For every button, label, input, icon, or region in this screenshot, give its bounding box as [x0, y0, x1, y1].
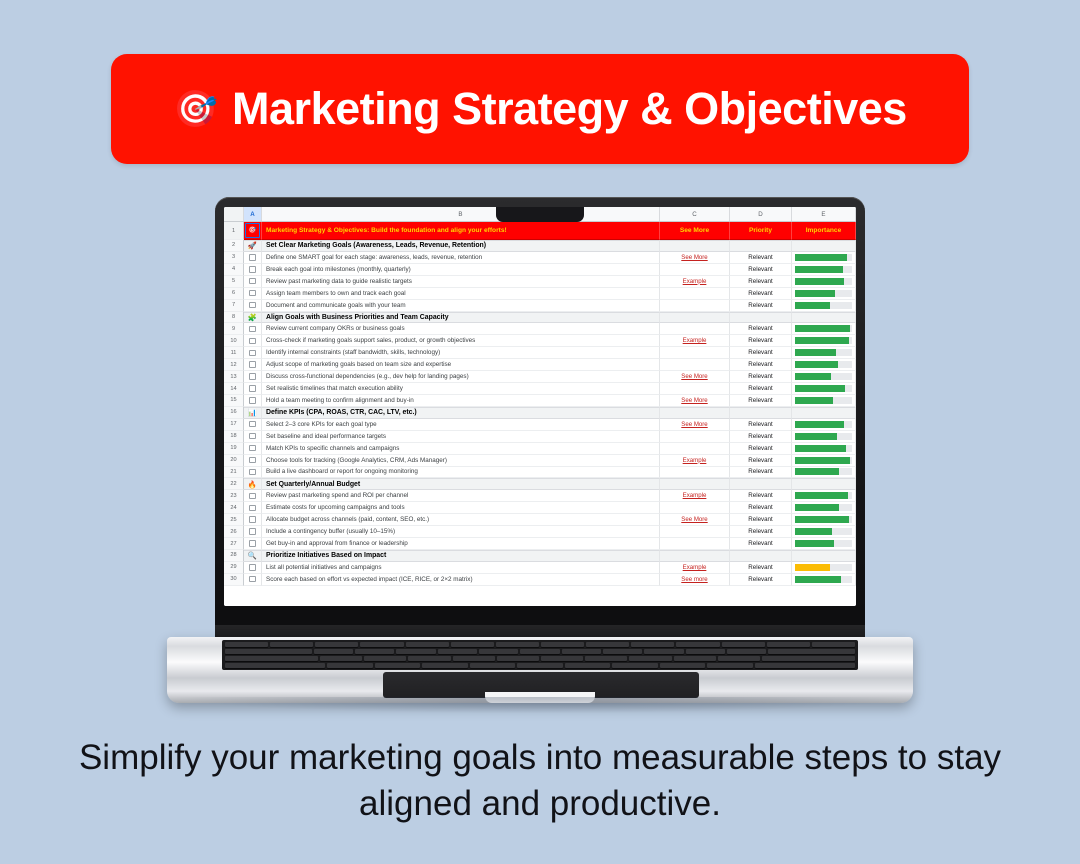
importance-cell[interactable] — [792, 562, 856, 574]
task-checkbox-cell[interactable] — [244, 383, 262, 395]
task-checkbox-cell[interactable] — [244, 288, 262, 300]
see-more-cell[interactable]: See More — [660, 395, 730, 407]
section-header-row[interactable]: 28🔍Prioritize Initiatives Based on Impac… — [224, 550, 856, 562]
task-text-cell[interactable]: Select 2–3 core KPIs for each goal type — [262, 419, 660, 431]
checkbox-icon[interactable] — [249, 350, 255, 356]
priority-column-label: Priority — [749, 227, 772, 234]
task-checkbox-cell[interactable] — [244, 347, 262, 359]
task-row[interactable]: 7Document and communicate goals with you… — [224, 300, 856, 312]
importance-cell[interactable] — [792, 383, 856, 395]
row-number[interactable]: 29 — [224, 562, 244, 574]
importance-bar-track — [795, 266, 852, 273]
poster-canvas: 🎯 Marketing Strategy & Objectives A B C … — [0, 0, 1080, 864]
task-label: Choose tools for tracking (Google Analyt… — [266, 457, 447, 464]
task-label: Review current company OKRs or business … — [266, 325, 405, 332]
priority-cell[interactable]: Relevant — [730, 359, 792, 371]
see-more-cell[interactable]: See More — [660, 419, 730, 431]
importance-bar-track — [795, 564, 852, 571]
task-checkbox-cell[interactable] — [244, 502, 262, 514]
spreadsheet[interactable]: A B C D E 1 🎯 — [224, 207, 856, 606]
checkbox-icon[interactable] — [249, 373, 255, 379]
priority-value: Relevant — [748, 468, 772, 475]
task-text-cell[interactable]: Review current company OKRs or business … — [262, 323, 660, 335]
importance-cell[interactable] — [792, 240, 856, 252]
importance-bar-track — [795, 349, 852, 356]
importance-bar-fill — [795, 576, 841, 583]
section-header-row[interactable]: 16📊Define KPIs (CPA, ROAS, CTR, CAC, LTV… — [224, 407, 856, 419]
row-number[interactable]: 28 — [224, 550, 244, 562]
importance-bar-fill — [795, 468, 839, 475]
task-checkbox-cell[interactable] — [244, 335, 262, 347]
checkbox-icon[interactable] — [249, 469, 255, 475]
select-all-corner[interactable] — [224, 207, 244, 221]
row-number[interactable]: 19 — [224, 443, 244, 455]
task-text-cell[interactable]: List all potential initiatives and campa… — [262, 562, 660, 574]
importance-bar-fill — [795, 564, 830, 571]
checkbox-icon[interactable] — [249, 254, 255, 260]
task-checkbox-cell[interactable] — [244, 419, 262, 431]
column-header-a[interactable]: A — [244, 207, 262, 221]
title-cell-d1: Priority — [730, 222, 792, 240]
priority-cell[interactable]: Relevant — [730, 467, 792, 479]
see-more-link[interactable]: See More — [681, 421, 707, 428]
task-text-cell[interactable]: Adjust scope of marketing goals based on… — [262, 359, 660, 371]
task-text-cell[interactable]: Score each based on effort vs expected i… — [262, 574, 660, 586]
task-row[interactable]: 30Score each based on effort vs expected… — [224, 574, 856, 586]
section-header-row[interactable]: 22🔥Set Quarterly/Annual Budget — [224, 478, 856, 490]
priority-cell[interactable]: Relevant — [730, 455, 792, 467]
importance-bar-track — [795, 492, 852, 499]
importance-cell[interactable] — [792, 478, 856, 490]
task-row[interactable]: 10Cross-check if marketing goals support… — [224, 335, 856, 347]
task-checkbox-cell[interactable] — [244, 264, 262, 276]
task-checkbox-cell[interactable] — [244, 455, 262, 467]
section-title-cell[interactable]: Set Clear Marketing Goals (Awareness, Le… — [262, 240, 660, 252]
row-number[interactable]: 14 — [224, 383, 244, 395]
task-text-cell[interactable]: Build a live dashboard or report for ong… — [262, 467, 660, 479]
priority-cell[interactable]: Relevant — [730, 335, 792, 347]
see-more-cell — [660, 550, 730, 562]
priority-cell[interactable]: Relevant — [730, 443, 792, 455]
task-text-cell[interactable]: Discuss cross-functional dependencies (e… — [262, 371, 660, 383]
importance-bar-track — [795, 397, 852, 404]
row-number[interactable]: 7 — [224, 300, 244, 312]
checkbox-icon[interactable] — [249, 361, 255, 367]
importance-cell[interactable] — [792, 550, 856, 562]
see-more-cell — [660, 240, 730, 252]
screen-notch — [496, 207, 584, 222]
priority-cell[interactable]: Relevant — [730, 383, 792, 395]
importance-cell[interactable] — [792, 347, 856, 359]
row-number[interactable]: 12 — [224, 359, 244, 371]
task-checkbox-cell[interactable] — [244, 359, 262, 371]
priority-value: Relevant — [748, 302, 772, 309]
row-number[interactable]: 5 — [224, 276, 244, 288]
task-text-cell[interactable]: Include a contingency buffer (usually 10… — [262, 526, 660, 538]
importance-bar-track — [795, 421, 852, 428]
section-icon: 📊 — [244, 407, 262, 419]
importance-cell[interactable] — [792, 574, 856, 586]
row-number[interactable]: 23 — [224, 490, 244, 502]
importance-bar-track — [795, 373, 852, 380]
example-link[interactable]: Example — [683, 278, 707, 285]
row-number[interactable]: 16 — [224, 407, 244, 419]
row-number[interactable]: 17 — [224, 419, 244, 431]
task-text-cell[interactable]: Assign team members to own and track eac… — [262, 288, 660, 300]
task-text-cell[interactable]: Review past marketing spend and ROI per … — [262, 490, 660, 502]
task-row[interactable]: 11Identify internal constraints (staff b… — [224, 347, 856, 359]
task-row[interactable]: 14Set realistic timelines that match exe… — [224, 383, 856, 395]
importance-cell[interactable] — [792, 407, 856, 419]
section-emoji-icon: 🚀 — [248, 242, 257, 249]
priority-cell[interactable]: Relevant — [730, 347, 792, 359]
caption-text: Simplify your marketing goals into measu… — [0, 735, 1080, 827]
task-checkbox-cell[interactable] — [244, 574, 262, 586]
checkbox-icon[interactable] — [249, 397, 255, 403]
importance-bar-fill — [795, 278, 844, 285]
row-number[interactable]: 18 — [224, 431, 244, 443]
task-checkbox-cell[interactable] — [244, 490, 262, 502]
checkbox-icon[interactable] — [249, 302, 255, 308]
importance-cell[interactable] — [792, 359, 856, 371]
importance-cell[interactable] — [792, 264, 856, 276]
section-icon: 🔍 — [244, 550, 262, 562]
checkbox-icon[interactable] — [249, 564, 255, 570]
priority-value: Relevant — [748, 445, 772, 452]
importance-cell[interactable] — [792, 431, 856, 443]
column-header-d[interactable]: D — [730, 207, 792, 221]
importance-cell[interactable] — [792, 300, 856, 312]
see-more-cell — [660, 300, 730, 312]
importance-cell[interactable] — [792, 443, 856, 455]
checkbox-icon[interactable] — [249, 528, 255, 534]
task-text-cell[interactable]: Match KPIs to specific channels and camp… — [262, 443, 660, 455]
see-more-link[interactable]: See more — [681, 576, 707, 583]
see-more-cell[interactable]: Example — [660, 276, 730, 288]
priority-cell[interactable]: Relevant — [730, 490, 792, 502]
see-more-cell[interactable]: Example — [660, 562, 730, 574]
checkbox-icon[interactable] — [249, 338, 255, 344]
task-row[interactable]: 18Set baseline and ideal performance tar… — [224, 431, 856, 443]
see-more-cell — [660, 288, 730, 300]
task-checkbox-cell[interactable] — [244, 443, 262, 455]
task-row[interactable]: 13Discuss cross-functional dependencies … — [224, 371, 856, 383]
task-checkbox-cell[interactable] — [244, 514, 262, 526]
importance-cell[interactable] — [792, 395, 856, 407]
importance-cell[interactable] — [792, 538, 856, 550]
task-checkbox-cell[interactable] — [244, 371, 262, 383]
task-row[interactable]: 5Review past marketing data to guide rea… — [224, 276, 856, 288]
priority-cell[interactable]: Relevant — [730, 276, 792, 288]
row-number[interactable]: 11 — [224, 347, 244, 359]
see-more-cell[interactable]: See More — [660, 371, 730, 383]
priority-cell[interactable]: Relevant — [730, 574, 792, 586]
see-more-cell — [660, 264, 730, 276]
task-row[interactable]: 9Review current company OKRs or business… — [224, 323, 856, 335]
importance-cell[interactable] — [792, 371, 856, 383]
priority-value: Relevant — [748, 266, 772, 273]
importance-cell[interactable] — [792, 502, 856, 514]
example-link[interactable]: Example — [683, 337, 707, 344]
checkbox-icon[interactable] — [249, 385, 255, 391]
laptop-mockup: A B C D E 1 🎯 — [167, 197, 913, 712]
task-label: Set baseline and ideal performance targe… — [266, 433, 386, 440]
checkbox-icon[interactable] — [249, 457, 255, 463]
task-checkbox-cell[interactable] — [244, 526, 262, 538]
row-number[interactable]: 20 — [224, 455, 244, 467]
column-header-b[interactable]: B — [262, 207, 660, 221]
see-more-cell[interactable]: Example — [660, 490, 730, 502]
row-number[interactable]: 15 — [224, 395, 244, 407]
task-text-cell[interactable]: Document and communicate goals with your… — [262, 300, 660, 312]
importance-cell[interactable] — [792, 455, 856, 467]
task-row[interactable]: 23Review past marketing spend and ROI pe… — [224, 490, 856, 502]
priority-cell[interactable]: Relevant — [730, 502, 792, 514]
importance-cell[interactable] — [792, 514, 856, 526]
task-text-cell[interactable]: Identify internal constraints (staff ban… — [262, 347, 660, 359]
row-number[interactable]: 27 — [224, 538, 244, 550]
column-header-c[interactable]: C — [660, 207, 730, 221]
priority-cell[interactable]: Relevant — [730, 419, 792, 431]
task-text-cell[interactable]: Define one SMART goal for each stage: aw… — [262, 252, 660, 264]
priority-cell[interactable]: Relevant — [730, 288, 792, 300]
task-checkbox-cell[interactable] — [244, 467, 262, 479]
dart-target-icon: 🎯 — [248, 227, 257, 234]
see-more-cell — [660, 359, 730, 371]
priority-cell[interactable]: Relevant — [730, 395, 792, 407]
section-icon: 🚀 — [244, 240, 262, 252]
task-checkbox-cell[interactable] — [244, 323, 262, 335]
checkbox-icon[interactable] — [249, 576, 255, 582]
section-title-cell[interactable]: Set Quarterly/Annual Budget — [262, 478, 660, 490]
task-text-cell[interactable]: Cross-check if marketing goals support s… — [262, 335, 660, 347]
priority-cell[interactable] — [730, 240, 792, 252]
priority-cell[interactable]: Relevant — [730, 431, 792, 443]
row-number[interactable]: 30 — [224, 574, 244, 586]
priority-cell[interactable] — [730, 550, 792, 562]
task-row[interactable]: 12Adjust scope of marketing goals based … — [224, 359, 856, 371]
task-row[interactable]: 29List all potential initiatives and cam… — [224, 562, 856, 574]
laptop-keyboard — [222, 640, 858, 670]
row-number[interactable]: 21 — [224, 467, 244, 479]
importance-bar-fill — [795, 445, 846, 452]
page-title: Marketing Strategy & Objectives — [232, 83, 907, 135]
task-row[interactable]: 26Include a contingency buffer (usually … — [224, 526, 856, 538]
row-number[interactable]: 25 — [224, 514, 244, 526]
example-link[interactable]: Example — [683, 492, 707, 499]
priority-cell[interactable]: Relevant — [730, 371, 792, 383]
priority-cell[interactable]: Relevant — [730, 323, 792, 335]
see-more-cell[interactable]: Example — [660, 455, 730, 467]
task-row[interactable]: 15Hold a team meeting to confirm alignme… — [224, 395, 856, 407]
importance-bar-track — [795, 504, 852, 511]
task-label: Build a live dashboard or report for ong… — [266, 468, 418, 475]
importance-bar-fill — [795, 504, 839, 511]
priority-cell[interactable]: Relevant — [730, 538, 792, 550]
importance-cell[interactable] — [792, 252, 856, 264]
task-row[interactable]: 27Get buy-in and approval from finance o… — [224, 538, 856, 550]
section-header-row[interactable]: 2🚀Set Clear Marketing Goals (Awareness, … — [224, 240, 856, 252]
importance-bar-fill — [795, 385, 845, 392]
task-text-cell[interactable]: Choose tools for tracking (Google Analyt… — [262, 455, 660, 467]
task-label: Match KPIs to specific channels and camp… — [266, 445, 399, 452]
title-cell-a1[interactable]: 🎯 — [244, 222, 262, 240]
checkbox-icon[interactable] — [249, 445, 255, 451]
title-cell-b1: Marketing Strategy & Objectives: Build t… — [262, 222, 660, 240]
task-label: Define one SMART goal for each stage: aw… — [266, 254, 482, 261]
task-label: Estimate costs for upcoming campaigns an… — [266, 504, 405, 511]
task-label: Include a contingency buffer (usually 10… — [266, 528, 395, 535]
row-number[interactable]: 4 — [224, 264, 244, 276]
section-title-cell[interactable]: Align Goals with Business Priorities and… — [262, 312, 660, 324]
priority-value: Relevant — [748, 421, 772, 428]
see-more-cell[interactable]: See more — [660, 574, 730, 586]
importance-column-label: Importance — [806, 227, 842, 234]
checkbox-icon[interactable] — [249, 493, 255, 499]
priority-value: Relevant — [748, 325, 772, 332]
task-checkbox-cell[interactable] — [244, 395, 262, 407]
checkbox-icon[interactable] — [249, 290, 255, 296]
priority-cell[interactable] — [730, 312, 792, 324]
task-checkbox-cell[interactable] — [244, 300, 262, 312]
importance-cell[interactable] — [792, 490, 856, 502]
importance-cell[interactable] — [792, 419, 856, 431]
checkbox-icon[interactable] — [249, 326, 255, 332]
section-emoji-icon: 🔍 — [248, 552, 257, 559]
priority-cell[interactable]: Relevant — [730, 252, 792, 264]
importance-bar-fill — [795, 516, 849, 523]
priority-cell[interactable]: Relevant — [730, 264, 792, 276]
task-label: List all potential initiatives and campa… — [266, 564, 382, 571]
importance-bar-fill — [795, 421, 844, 428]
importance-bar-track — [795, 278, 852, 285]
see-more-column-label: See More — [680, 227, 709, 234]
checkbox-icon[interactable] — [249, 266, 255, 272]
task-checkbox-cell[interactable] — [244, 431, 262, 443]
importance-bar-fill — [795, 457, 850, 464]
priority-value: Relevant — [748, 528, 772, 535]
importance-bar-track — [795, 445, 852, 452]
task-label: Score each based on effort vs expected i… — [266, 576, 473, 583]
importance-bar-track — [795, 576, 852, 583]
task-row[interactable]: 4Break each goal into milestones (monthl… — [224, 264, 856, 276]
priority-cell[interactable]: Relevant — [730, 526, 792, 538]
importance-cell[interactable] — [792, 467, 856, 479]
see-more-cell — [660, 478, 730, 490]
importance-bar-track — [795, 290, 852, 297]
task-text-cell[interactable]: Set realistic timelines that match execu… — [262, 383, 660, 395]
task-row[interactable]: 20Choose tools for tracking (Google Anal… — [224, 455, 856, 467]
row-number[interactable]: 2 — [224, 240, 244, 252]
importance-bar-track — [795, 516, 852, 523]
task-checkbox-cell[interactable] — [244, 252, 262, 264]
priority-cell[interactable] — [730, 407, 792, 419]
see-more-link[interactable]: See More — [681, 397, 707, 404]
task-text-cell[interactable]: Review past marketing data to guide real… — [262, 276, 660, 288]
row-number[interactable]: 26 — [224, 526, 244, 538]
task-row[interactable]: 24Estimate costs for upcoming campaigns … — [224, 502, 856, 514]
task-row[interactable]: 3Define one SMART goal for each stage: a… — [224, 252, 856, 264]
section-icon: 🔥 — [244, 478, 262, 490]
section-label: Set Clear Marketing Goals (Awareness, Le… — [266, 242, 486, 249]
checkbox-icon[interactable] — [249, 540, 255, 546]
importance-cell[interactable] — [792, 323, 856, 335]
task-row[interactable]: 17Select 2–3 core KPIs for each goal typ… — [224, 419, 856, 431]
sheet-title-row: 1 🎯 Marketing Strategy & Objectives: Bui… — [224, 222, 856, 240]
section-title-cell[interactable]: Define KPIs (CPA, ROAS, CTR, CAC, LTV, e… — [262, 407, 660, 419]
importance-cell[interactable] — [792, 276, 856, 288]
row-number[interactable]: 13 — [224, 371, 244, 383]
column-header-e[interactable]: E — [792, 207, 856, 221]
row-number[interactable]: 3 — [224, 252, 244, 264]
priority-value: Relevant — [748, 433, 772, 440]
task-text-cell[interactable]: Break each goal into milestones (monthly… — [262, 264, 660, 276]
priority-cell[interactable]: Relevant — [730, 562, 792, 574]
priority-cell[interactable] — [730, 478, 792, 490]
task-text-cell[interactable]: Allocate budget across channels (paid, c… — [262, 514, 660, 526]
task-text-cell[interactable]: Estimate costs for upcoming campaigns an… — [262, 502, 660, 514]
see-more-link[interactable]: See More — [681, 516, 707, 523]
task-row[interactable]: 6Assign team members to own and track ea… — [224, 288, 856, 300]
task-checkbox-cell[interactable] — [244, 276, 262, 288]
row-number[interactable]: 24 — [224, 502, 244, 514]
task-row[interactable]: 25Allocate budget across channels (paid,… — [224, 514, 856, 526]
row-number[interactable]: 10 — [224, 335, 244, 347]
priority-cell[interactable]: Relevant — [730, 514, 792, 526]
section-header-row[interactable]: 8🧩Align Goals with Business Priorities a… — [224, 312, 856, 324]
checkbox-icon[interactable] — [249, 421, 255, 427]
priority-value: Relevant — [748, 278, 772, 285]
checkbox-icon[interactable] — [249, 516, 255, 522]
checkbox-icon[interactable] — [249, 278, 255, 284]
row-number[interactable]: 9 — [224, 323, 244, 335]
section-label: Set Quarterly/Annual Budget — [266, 481, 360, 488]
see-more-cell[interactable]: Example — [660, 335, 730, 347]
section-title-cell[interactable]: Prioritize Initiatives Based on Impact — [262, 550, 660, 562]
title-cell-c1: See More — [660, 222, 730, 240]
task-row[interactable]: 21Build a live dashboard or report for o… — [224, 467, 856, 479]
row-number[interactable]: 22 — [224, 478, 244, 490]
importance-cell[interactable] — [792, 335, 856, 347]
example-link[interactable]: Example — [683, 564, 707, 571]
importance-cell[interactable] — [792, 526, 856, 538]
task-row[interactable]: 19Match KPIs to specific channels and ca… — [224, 443, 856, 455]
importance-bar-track — [795, 325, 852, 332]
priority-cell[interactable]: Relevant — [730, 300, 792, 312]
see-more-cell — [660, 347, 730, 359]
task-label: Discuss cross-functional dependencies (e… — [266, 373, 469, 380]
see-more-cell[interactable]: See More — [660, 252, 730, 264]
see-more-link[interactable]: See More — [681, 373, 707, 380]
task-text-cell[interactable]: Set baseline and ideal performance targe… — [262, 431, 660, 443]
row-number[interactable]: 6 — [224, 288, 244, 300]
task-label: Adjust scope of marketing goals based on… — [266, 361, 451, 368]
checkbox-icon[interactable] — [249, 505, 255, 511]
example-link[interactable]: Example — [683, 457, 707, 464]
task-checkbox-cell[interactable] — [244, 562, 262, 574]
importance-bar-track — [795, 457, 852, 464]
see-more-cell[interactable]: See More — [660, 514, 730, 526]
checkbox-icon[interactable] — [249, 433, 255, 439]
sheet-title-text: Marketing Strategy & Objectives: Build t… — [266, 227, 507, 234]
importance-cell[interactable] — [792, 312, 856, 324]
row-number[interactable]: 8 — [224, 312, 244, 324]
see-more-link[interactable]: See More — [681, 254, 707, 261]
task-text-cell[interactable]: Hold a team meeting to confirm alignment… — [262, 395, 660, 407]
task-checkbox-cell[interactable] — [244, 538, 262, 550]
task-text-cell[interactable]: Get buy-in and approval from finance or … — [262, 538, 660, 550]
importance-cell[interactable] — [792, 288, 856, 300]
